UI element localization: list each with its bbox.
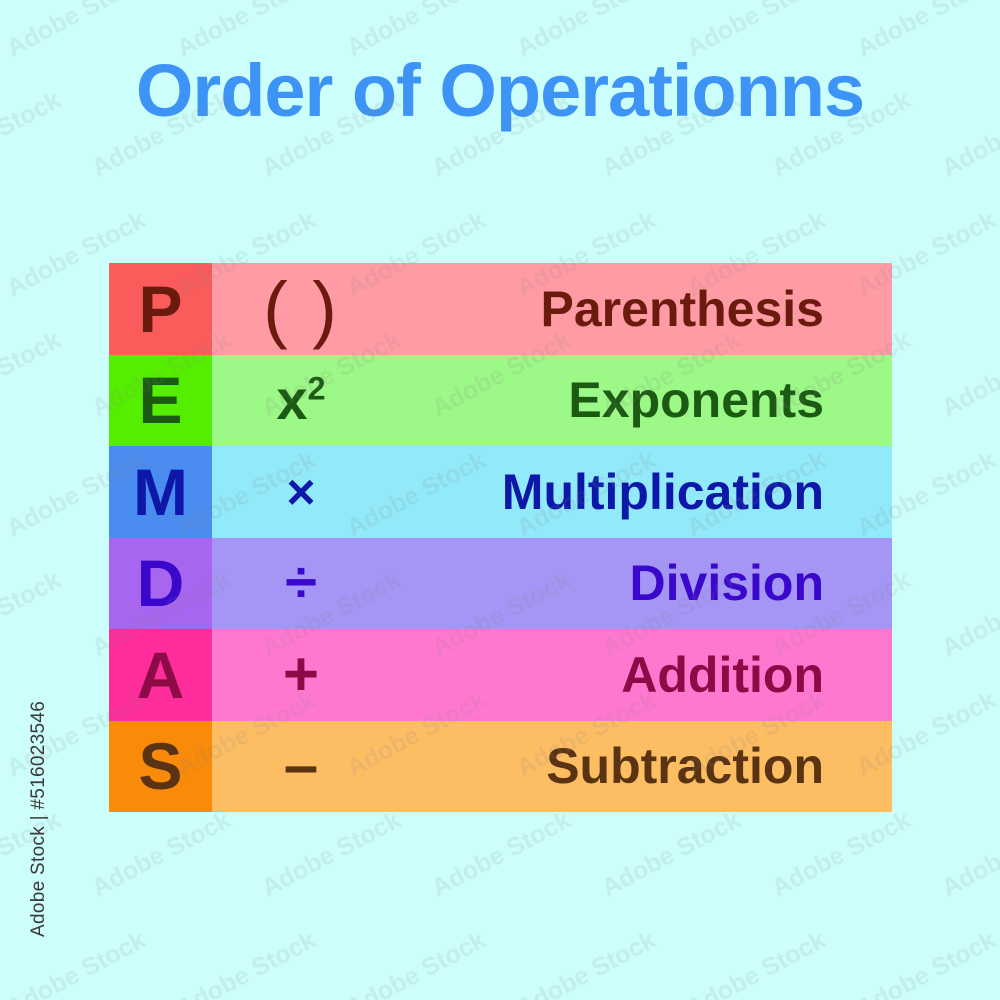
watermark-tile: Adobe Stock [0, 326, 66, 423]
row-body-cell-m: × Multiplication [212, 446, 892, 538]
watermark-tile: Adobe Stock [512, 926, 661, 1000]
table-row: A + Addition [109, 629, 892, 721]
pemdas-table: P ( ) Parenthesis E x2 Exponents M × Mul… [109, 263, 892, 812]
row-body-cell-a: + Addition [212, 629, 892, 721]
watermark-tile: Adobe Stock [0, 566, 66, 663]
row-letter-p: P [138, 276, 182, 342]
watermark-tile: Adobe Stock [767, 806, 916, 903]
watermark-tile: Adobe Stock [427, 806, 576, 903]
watermark-tile: Adobe Stock [937, 566, 1000, 663]
page-title: Order of Operationns [0, 54, 1000, 128]
row-letter-s: S [138, 733, 182, 799]
table-row: S – Subtraction [109, 721, 892, 813]
row-letter-cell-a: A [109, 629, 212, 721]
exponent-symbol: x2 [212, 372, 390, 428]
poster-canvas: Order of Operationns P ( ) Parenthesis E… [0, 0, 1000, 1000]
row-letter-d: D [137, 550, 185, 616]
watermark-tile: Adobe Stock [257, 806, 406, 903]
watermark-tile: Adobe Stock [852, 926, 1000, 1000]
row-body-cell-s: – Subtraction [212, 721, 892, 813]
row-letter-m: M [133, 459, 188, 525]
row-letter-cell-m: M [109, 446, 212, 538]
table-row: P ( ) Parenthesis [109, 263, 892, 355]
row-letter-a: A [137, 642, 185, 708]
stock-credit-watermark: Adobe Stock | #516023546 [28, 697, 50, 937]
multiplication-symbol: × [212, 467, 390, 517]
table-row: D ÷ Division [109, 538, 892, 630]
minus-symbol: – [212, 735, 390, 797]
watermark-tile: Adobe Stock [2, 926, 151, 1000]
row-letter-cell-p: P [109, 263, 212, 355]
row-letter-cell-s: S [109, 721, 212, 813]
row-letter-e: E [138, 367, 182, 433]
row-body-cell-d: ÷ Division [212, 538, 892, 630]
watermark-tile: Adobe Stock [87, 806, 236, 903]
watermark-tile: Adobe Stock [597, 806, 746, 903]
watermark-tile: Adobe Stock [342, 926, 491, 1000]
row-body-cell-p: ( ) Parenthesis [212, 263, 892, 355]
watermark-tile: Adobe Stock [937, 326, 1000, 423]
row-letter-cell-e: E [109, 355, 212, 447]
exponent-power: 2 [308, 371, 326, 407]
watermark-tile: Adobe Stock [172, 926, 321, 1000]
watermark-tile: Adobe Stock [682, 926, 831, 1000]
watermark-tile: Adobe Stock [937, 806, 1000, 903]
table-row: E x2 Exponents [109, 355, 892, 447]
plus-symbol: + [212, 644, 390, 706]
division-symbol: ÷ [212, 554, 390, 612]
exponent-base: x [276, 368, 307, 431]
row-letter-cell-d: D [109, 538, 212, 630]
row-body-cell-e: x2 Exponents [212, 355, 892, 447]
parenthesis-symbol: ( ) [212, 272, 390, 346]
table-row: M × Multiplication [109, 446, 892, 538]
